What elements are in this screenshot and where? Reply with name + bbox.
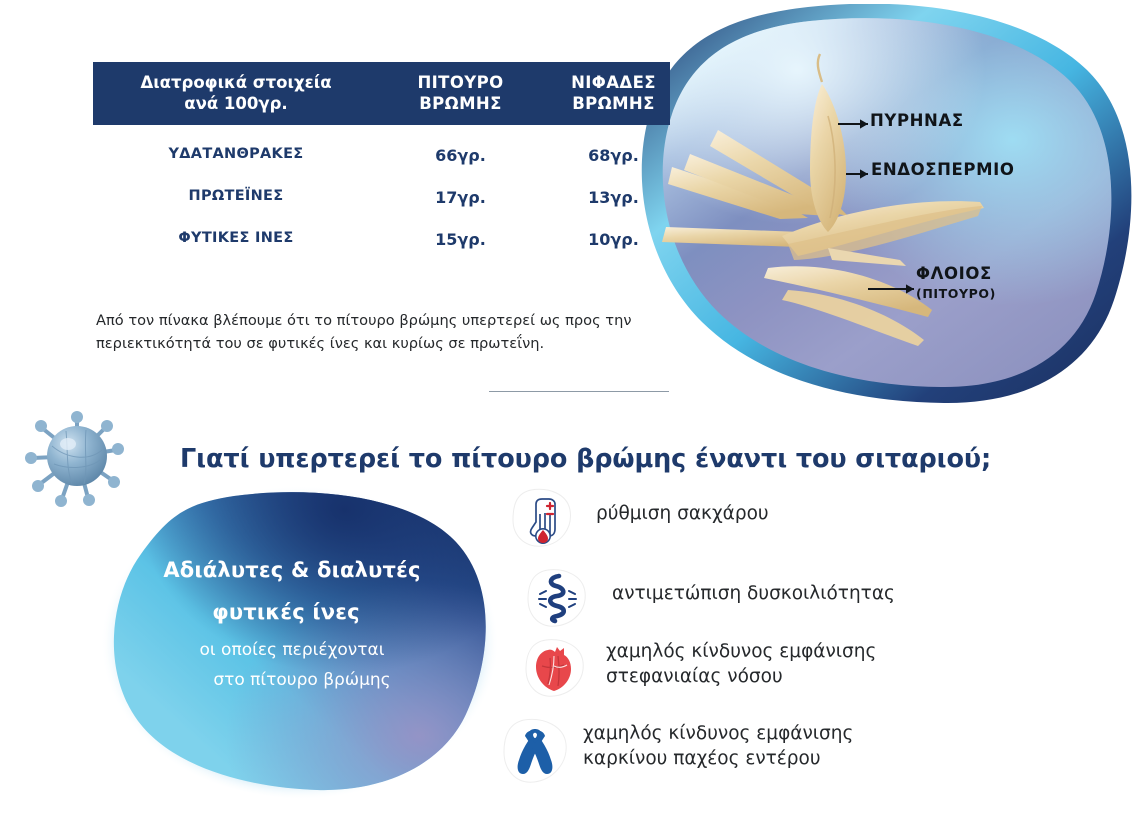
table-cell-label: ΥΔΑΤΑΝΘΡΑΚΕΣ [111, 146, 361, 162]
table-header-oat-bran: ΠΙΤΟΥΡΟ ΒΡΩΜΗΣ [393, 72, 528, 114]
table-header-oat-flakes-line1: ΝΙΦΑΔΕΣ [541, 72, 686, 93]
blood-sugar-icon [511, 488, 573, 548]
table-cell-oat-bran: 17γρ. [393, 188, 528, 207]
benefit-label-line1: αντιμετώπιση δυσκοιλιότητας [612, 582, 992, 607]
table-header-nutrient-line1: Διατροφικά στοιχεία [111, 72, 361, 93]
table-header-nutrient-line2: ανά 100γρ. [111, 93, 361, 114]
table-header-nutrient: Διατροφικά στοιχεία ανά 100γρ. [111, 72, 361, 114]
table-cell-label: ΠΡΩΤΕΪΝΕΣ [111, 188, 361, 204]
table-header-oat-bran-line1: ΠΙΤΟΥΡΟ [393, 72, 528, 93]
section-heading: Γιατί υπερτερεί το πίτουρο βρώμης έναντι… [180, 444, 980, 474]
benefit-label-line2: καρκίνου παχέος εντέρου [583, 747, 943, 772]
section-divider [489, 391, 669, 392]
fiber-blob [92, 480, 512, 816]
oat-label-kernel: ΠΥΡΗΝΑΣ [870, 111, 964, 130]
benefit-label: χαμηλός κίνδυνος εμφάνισης στεφανιαίας ν… [606, 640, 956, 690]
table-cell-oat-bran: 15γρ. [393, 230, 528, 249]
benefit-label-line1: χαμηλός κίνδυνος εμφάνισης [606, 640, 956, 665]
table-row: ΦΥΤΙΚΕΣ ΙΝΕΣ 15γρ. 10γρ. [93, 230, 640, 272]
benefit-label: αντιμετώπιση δυσκοιλιότητας [612, 582, 992, 607]
heart-icon [524, 638, 586, 698]
table-cell-oat-flakes: 13γρ. [541, 188, 686, 207]
table-header-oat-flakes: ΝΙΦΑΔΕΣ ΒΡΩΜΗΣ [541, 72, 686, 114]
benefit-label: χαμηλός κίνδυνος εμφάνισης καρκίνου παχέ… [583, 722, 943, 772]
table-cell-oat-flakes: 68γρ. [541, 146, 686, 165]
table-header-oat-flakes-line2: ΒΡΩΜΗΣ [541, 93, 686, 114]
benefit-label-line2: στεφανιαίας νόσου [606, 665, 956, 690]
oat-label-husk: ΦΛΟΙΟΣ [916, 264, 992, 283]
table-cell-oat-flakes: 10γρ. [541, 230, 686, 249]
intestine-icon [526, 568, 588, 628]
benefit-label: ρύθμιση σακχάρου [596, 502, 926, 527]
infographic-canvas: ΠΥΡΗΝΑΣ ΕΝΔΟΣΠΕΡΜΙΟ ΦΛΟΙΟΣ (ΠΙΤΟΥΡΟ) Δια… [0, 0, 1134, 830]
benefit-label-line1: χαμηλός κίνδυνος εμφάνισης [583, 722, 943, 747]
table-cell-label: ΦΥΤΙΚΕΣ ΙΝΕΣ [111, 230, 361, 246]
summary-paragraph: Από τον πίνακα βλέπουμε ότι το πίτουρο β… [96, 309, 641, 356]
table-cell-oat-bran: 66γρ. [393, 146, 528, 165]
table-header-oat-bran-line2: ΒΡΩΜΗΣ [393, 93, 528, 114]
oat-label-husk-sub: (ΠΙΤΟΥΡΟ) [916, 286, 996, 301]
oat-label-endosperm: ΕΝΔΟΣΠΕΡΜΙΟ [871, 160, 1015, 179]
ribbon-icon [500, 716, 562, 776]
table-row: ΠΡΩΤΕΪΝΕΣ 17γρ. 13γρ. [93, 188, 640, 230]
benefit-label-line1: ρύθμιση σακχάρου [596, 502, 926, 527]
table-row: ΥΔΑΤΑΝΘΡΑΚΕΣ 66γρ. 68γρ. [93, 146, 640, 188]
oat-blob-illustration [632, 4, 1134, 404]
